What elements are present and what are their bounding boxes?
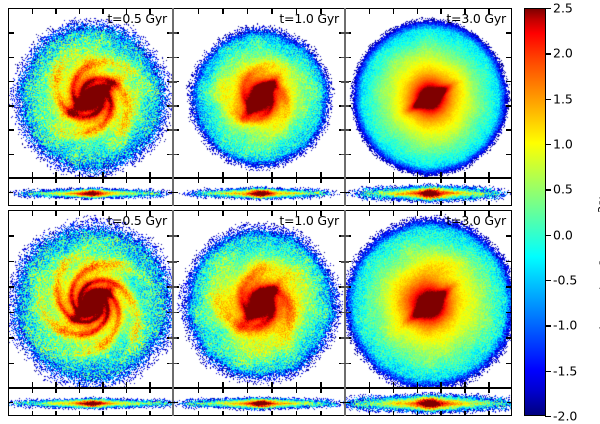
divider-tick xyxy=(169,261,177,263)
tick-mark xyxy=(320,201,321,206)
figure-root: t=0.5 Gyr t=1.0 Gyr t=3.0 Gyr t=0.5 Gyr … xyxy=(0,0,600,416)
tick-mark xyxy=(271,178,272,183)
tick-mark xyxy=(320,388,321,393)
colorbar-tick-label: 0.5 xyxy=(553,182,573,197)
tick-mark xyxy=(271,8,272,14)
time-label-row0-col2: t=3.0 Gyr xyxy=(446,11,506,26)
tick-mark xyxy=(247,178,248,183)
tick-mark xyxy=(8,235,14,236)
tick-mark xyxy=(55,8,56,14)
divider-tick xyxy=(341,57,349,59)
tick-mark xyxy=(296,178,297,183)
galaxy-map-row0-col2 xyxy=(346,9,512,178)
tick-mark xyxy=(271,388,272,393)
tick-mark xyxy=(32,8,33,14)
tick-mark xyxy=(149,210,150,216)
tick-mark xyxy=(393,178,394,183)
colorbar-tick xyxy=(545,53,551,54)
tick-mark xyxy=(8,402,13,403)
tick-mark xyxy=(149,388,150,393)
tick-mark xyxy=(149,411,150,416)
time-label-row1-col1: t=1.0 Gyr xyxy=(279,213,339,228)
tick-mark xyxy=(32,201,33,206)
tick-mark xyxy=(506,81,512,82)
tick-mark xyxy=(271,210,272,216)
panel-face-on-row0-col1: t=1.0 Gyr xyxy=(173,8,345,178)
divider-tick xyxy=(341,312,349,314)
tick-mark xyxy=(369,210,370,216)
tick-mark xyxy=(149,178,150,183)
colorbar-tick xyxy=(545,235,551,236)
tick-mark xyxy=(102,201,103,206)
tick-mark xyxy=(488,210,489,216)
tick-mark xyxy=(488,201,489,206)
tick-mark xyxy=(417,210,418,216)
tick-mark xyxy=(440,411,441,416)
tick-mark xyxy=(198,388,199,393)
tick-mark xyxy=(506,105,512,106)
divider-tick xyxy=(169,235,177,237)
tick-mark xyxy=(488,178,489,183)
colorbar xyxy=(524,8,546,416)
tick-mark xyxy=(506,261,512,262)
tick-mark xyxy=(369,201,370,206)
tick-mark xyxy=(393,411,394,416)
panel-face-on-row1-col0: t=0.5 Gyr xyxy=(8,210,173,388)
divider-tick xyxy=(169,105,177,107)
tick-mark xyxy=(247,8,248,14)
tick-mark xyxy=(345,192,350,193)
tick-mark xyxy=(417,8,418,14)
tick-mark xyxy=(271,201,272,206)
colorbar-tick xyxy=(545,371,551,372)
tick-mark xyxy=(8,32,14,33)
tick-mark xyxy=(8,105,14,106)
tick-mark xyxy=(102,411,103,416)
time-label-row0-col0: t=0.5 Gyr xyxy=(107,11,167,26)
tick-mark xyxy=(126,201,127,206)
tick-mark xyxy=(440,388,441,393)
tick-mark xyxy=(79,411,80,416)
divider-tick xyxy=(341,81,349,83)
tick-mark xyxy=(79,210,80,216)
tick-mark xyxy=(464,8,465,14)
edge-on-map-row1-col0 xyxy=(9,389,173,416)
divider-tick xyxy=(341,286,349,288)
tick-mark xyxy=(369,388,370,393)
tick-mark xyxy=(296,201,297,206)
colorbar-tick-label: 2.5 xyxy=(553,1,573,16)
tick-mark xyxy=(102,388,103,393)
tick-mark xyxy=(222,8,223,14)
colorbar-tick xyxy=(545,144,551,145)
tick-mark xyxy=(149,201,150,206)
tick-mark xyxy=(126,411,127,416)
tick-mark xyxy=(222,210,223,216)
tick-mark xyxy=(506,337,512,338)
divider-tick xyxy=(169,337,177,339)
tick-mark xyxy=(440,201,441,206)
tick-mark xyxy=(464,411,465,416)
tick-mark xyxy=(8,129,14,130)
colorbar-tick xyxy=(545,416,551,417)
panel-face-on-row0-col0: t=0.5 Gyr xyxy=(8,8,173,178)
time-label-row1-col0: t=0.5 Gyr xyxy=(107,213,167,228)
panel-face-on-row0-col2: t=3.0 Gyr xyxy=(345,8,512,178)
tick-mark xyxy=(198,210,199,216)
tick-mark xyxy=(126,8,127,14)
tick-mark xyxy=(320,210,321,216)
divider-tick xyxy=(341,363,349,365)
tick-mark xyxy=(126,388,127,393)
tick-mark xyxy=(198,201,199,206)
time-label-row1-col2: t=3.0 Gyr xyxy=(446,213,506,228)
tick-mark xyxy=(417,178,418,183)
tick-mark xyxy=(173,402,178,403)
divider-tick xyxy=(341,154,349,156)
tick-mark xyxy=(464,388,465,393)
divider-tick xyxy=(169,129,177,131)
tick-mark xyxy=(173,192,178,193)
tick-mark xyxy=(417,388,418,393)
edge-on-map-row1-col1 xyxy=(174,389,345,416)
tick-mark xyxy=(464,210,465,216)
galaxy-map-row1-col0 xyxy=(9,211,173,388)
tick-mark xyxy=(8,57,14,58)
divider-tick xyxy=(169,81,177,83)
tick-mark xyxy=(32,388,33,393)
tick-mark xyxy=(55,210,56,216)
tick-mark xyxy=(149,8,150,14)
column-divider-2 xyxy=(344,8,346,206)
divider-tick xyxy=(341,261,349,263)
column-divider-1 xyxy=(172,8,174,206)
galaxy-map-row1-col2 xyxy=(346,211,512,388)
galaxy-map-row0-col0 xyxy=(9,9,173,178)
tick-mark xyxy=(102,178,103,183)
colorbar-tick xyxy=(545,325,551,326)
divider-tick xyxy=(341,32,349,34)
tick-mark xyxy=(8,337,14,338)
colorbar-tick-label: -1.5 xyxy=(553,363,577,378)
tick-mark xyxy=(8,286,14,287)
divider-tick xyxy=(341,105,349,107)
tick-mark xyxy=(488,411,489,416)
panel-face-on-row1-col1: t=1.0 Gyr xyxy=(173,210,345,388)
tick-mark xyxy=(506,235,512,236)
tick-mark xyxy=(8,261,14,262)
tick-mark xyxy=(507,192,512,193)
tick-mark xyxy=(32,210,33,216)
edge-on-map-row1-col2 xyxy=(346,389,512,416)
tick-mark xyxy=(126,178,127,183)
tick-mark xyxy=(393,201,394,206)
colorbar-label: log10(Σ*/[M☉/pc2]) xyxy=(596,194,600,330)
colorbar-tick-label: 2.0 xyxy=(553,46,573,61)
tick-mark xyxy=(506,154,512,155)
colorbar-tick xyxy=(545,280,551,281)
tick-mark xyxy=(8,81,14,82)
divider-tick xyxy=(169,363,177,365)
tick-mark xyxy=(369,411,370,416)
tick-mark xyxy=(440,210,441,216)
divider-tick xyxy=(341,129,349,131)
divider-tick xyxy=(169,312,177,314)
tick-mark xyxy=(393,8,394,14)
tick-mark xyxy=(320,8,321,14)
tick-mark xyxy=(198,178,199,183)
tick-mark xyxy=(506,57,512,58)
edge-on-map-row0-col1 xyxy=(174,179,345,206)
tick-mark xyxy=(506,129,512,130)
tick-mark xyxy=(32,411,33,416)
colorbar-tick-label: 0.0 xyxy=(553,227,573,242)
tick-mark xyxy=(198,411,199,416)
tick-mark xyxy=(507,402,512,403)
tick-mark xyxy=(464,201,465,206)
tick-mark xyxy=(320,411,321,416)
colorbar-tick-label: 1.0 xyxy=(553,137,573,152)
tick-mark xyxy=(345,402,350,403)
tick-mark xyxy=(417,411,418,416)
tick-mark xyxy=(488,8,489,14)
divider-tick xyxy=(169,154,177,156)
tick-mark xyxy=(464,178,465,183)
tick-mark xyxy=(296,388,297,393)
tick-mark xyxy=(393,388,394,393)
tick-mark xyxy=(198,8,199,14)
colorbar-tick xyxy=(545,189,551,190)
tick-mark xyxy=(296,8,297,14)
tick-mark xyxy=(506,363,512,364)
tick-mark xyxy=(369,8,370,14)
tick-mark xyxy=(79,178,80,183)
colorbar-tick xyxy=(545,99,551,100)
divider-tick xyxy=(341,235,349,237)
tick-mark xyxy=(79,388,80,393)
tick-mark xyxy=(247,210,248,216)
tick-mark xyxy=(55,201,56,206)
colorbar-tick-label: 1.5 xyxy=(553,91,573,106)
galaxy-map-row1-col1 xyxy=(174,211,345,388)
edge-on-map-row0-col0 xyxy=(9,179,173,206)
tick-mark xyxy=(126,210,127,216)
tick-mark xyxy=(8,154,14,155)
tick-mark xyxy=(247,388,248,393)
tick-mark xyxy=(222,411,223,416)
tick-mark xyxy=(488,388,489,393)
panel-face-on-row1-col2: t=3.0 Gyr xyxy=(345,210,512,388)
tick-mark xyxy=(393,210,394,216)
tick-mark xyxy=(222,178,223,183)
edge-on-map-row0-col2 xyxy=(346,179,512,206)
tick-mark xyxy=(8,312,14,313)
tick-mark xyxy=(55,388,56,393)
tick-mark xyxy=(55,178,56,183)
tick-mark xyxy=(222,201,223,206)
tick-mark xyxy=(296,411,297,416)
time-label-row0-col1: t=1.0 Gyr xyxy=(279,11,339,26)
tick-mark xyxy=(369,178,370,183)
tick-mark xyxy=(79,201,80,206)
divider-tick xyxy=(169,57,177,59)
tick-mark xyxy=(102,8,103,14)
tick-mark xyxy=(247,201,248,206)
tick-mark xyxy=(55,411,56,416)
tick-mark xyxy=(8,192,13,193)
colorbar-tick xyxy=(545,8,551,9)
colorbar-tick-label: -0.5 xyxy=(553,273,577,288)
tick-mark xyxy=(79,8,80,14)
tick-mark xyxy=(440,8,441,14)
tick-mark xyxy=(506,32,512,33)
tick-mark xyxy=(8,363,14,364)
tick-mark xyxy=(247,411,248,416)
tick-mark xyxy=(32,178,33,183)
galaxy-map-row0-col1 xyxy=(174,9,345,178)
tick-mark xyxy=(506,312,512,313)
tick-mark xyxy=(417,201,418,206)
divider-tick xyxy=(169,32,177,34)
tick-mark xyxy=(102,210,103,216)
divider-tick xyxy=(341,337,349,339)
tick-mark xyxy=(320,178,321,183)
tick-mark xyxy=(222,388,223,393)
tick-mark xyxy=(506,286,512,287)
colorbar-tick-label: -1.0 xyxy=(553,318,577,333)
tick-mark xyxy=(296,210,297,216)
tick-mark xyxy=(440,178,441,183)
colorbar-tick-label: -2.0 xyxy=(553,409,577,424)
tick-mark xyxy=(271,411,272,416)
divider-tick xyxy=(169,286,177,288)
